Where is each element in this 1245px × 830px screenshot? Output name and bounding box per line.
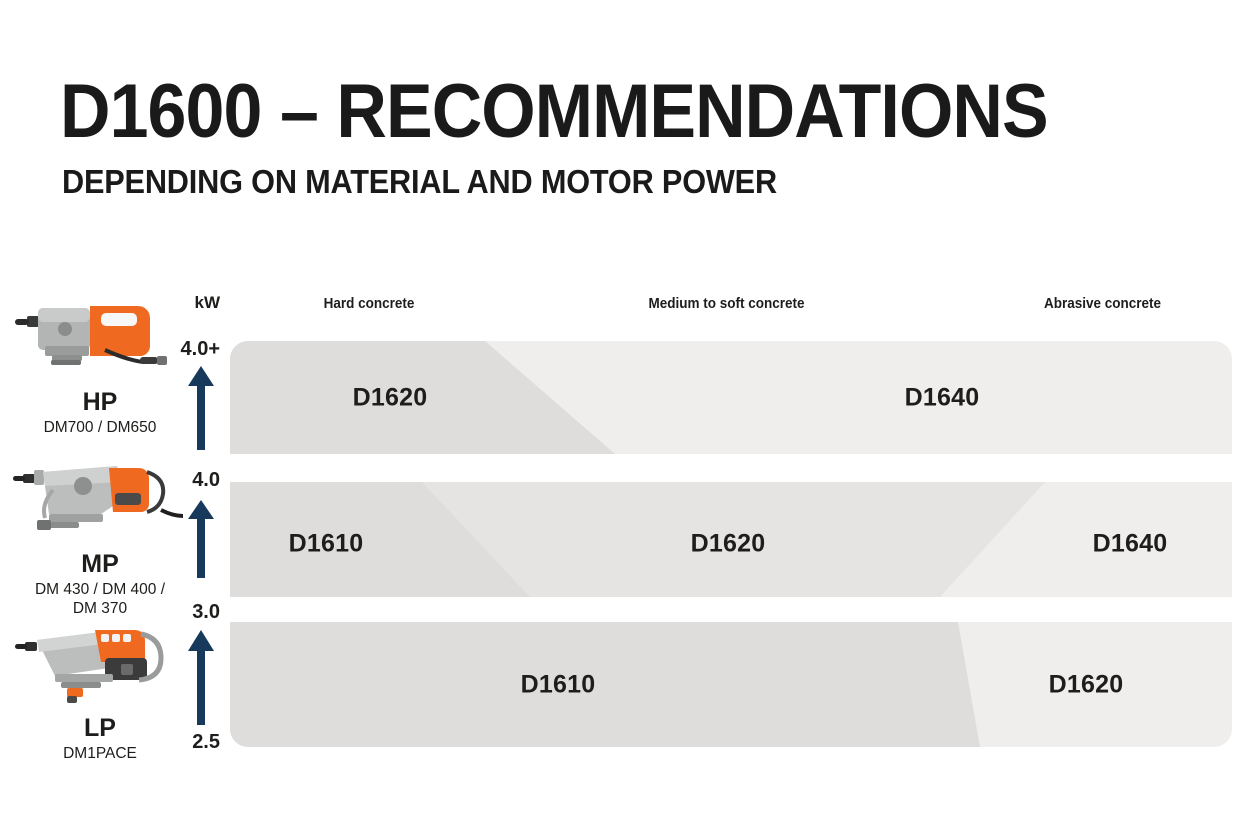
recommendation-bar-hp: D1620 D1640 bbox=[230, 341, 1232, 454]
column-header-hard-concrete: Hard concrete bbox=[269, 295, 469, 312]
bar-segment-label: D1610 bbox=[521, 671, 596, 700]
core-drill-mp-photo bbox=[5, 448, 195, 548]
machine-code: MP bbox=[0, 550, 200, 578]
column-header-abrasive-concrete: Abrasive concrete bbox=[997, 295, 1209, 312]
machine-row-mp: MP DM 430 / DM 400 / DM 370 bbox=[0, 448, 200, 618]
page-title: D1600 – RECOMMENDATIONS bbox=[60, 72, 1048, 152]
core-drill-lp-photo bbox=[5, 612, 195, 712]
page-subtitle: DEPENDING ON MATERIAL AND MOTOR POWER bbox=[62, 163, 777, 201]
bar-segment-label: D1620 bbox=[353, 384, 428, 413]
bar-segment-label: D1640 bbox=[1093, 530, 1168, 559]
machine-models: DM700 / DM650 bbox=[0, 418, 200, 437]
machine-models-line1: DM 430 / DM 400 / bbox=[35, 581, 165, 598]
machine-row-hp: HP DM700 / DM650 bbox=[0, 286, 200, 437]
recommendation-bar-mp: D1610 D1620 D1640 bbox=[230, 482, 1232, 597]
bar-segment-label: D1610 bbox=[289, 530, 364, 559]
machine-code: LP bbox=[0, 714, 200, 742]
bar-segment-dark bbox=[230, 622, 980, 747]
machine-models: DM1PACE bbox=[0, 744, 200, 763]
bar-segment-label: D1640 bbox=[905, 384, 980, 413]
machine-row-lp: LP DM1PACE bbox=[0, 612, 200, 763]
column-header-medium-soft-concrete: Medium to soft concrete bbox=[577, 295, 877, 312]
core-drill-hp-photo bbox=[5, 286, 195, 386]
bar-segment-label: D1620 bbox=[691, 530, 766, 559]
bar-segment-label: D1620 bbox=[1049, 671, 1124, 700]
recommendation-bar-lp: D1610 D1620 bbox=[230, 622, 1232, 747]
machine-code: HP bbox=[0, 388, 200, 416]
slide-canvas: D1600 – RECOMMENDATIONS DEPENDING ON MAT… bbox=[0, 0, 1245, 830]
